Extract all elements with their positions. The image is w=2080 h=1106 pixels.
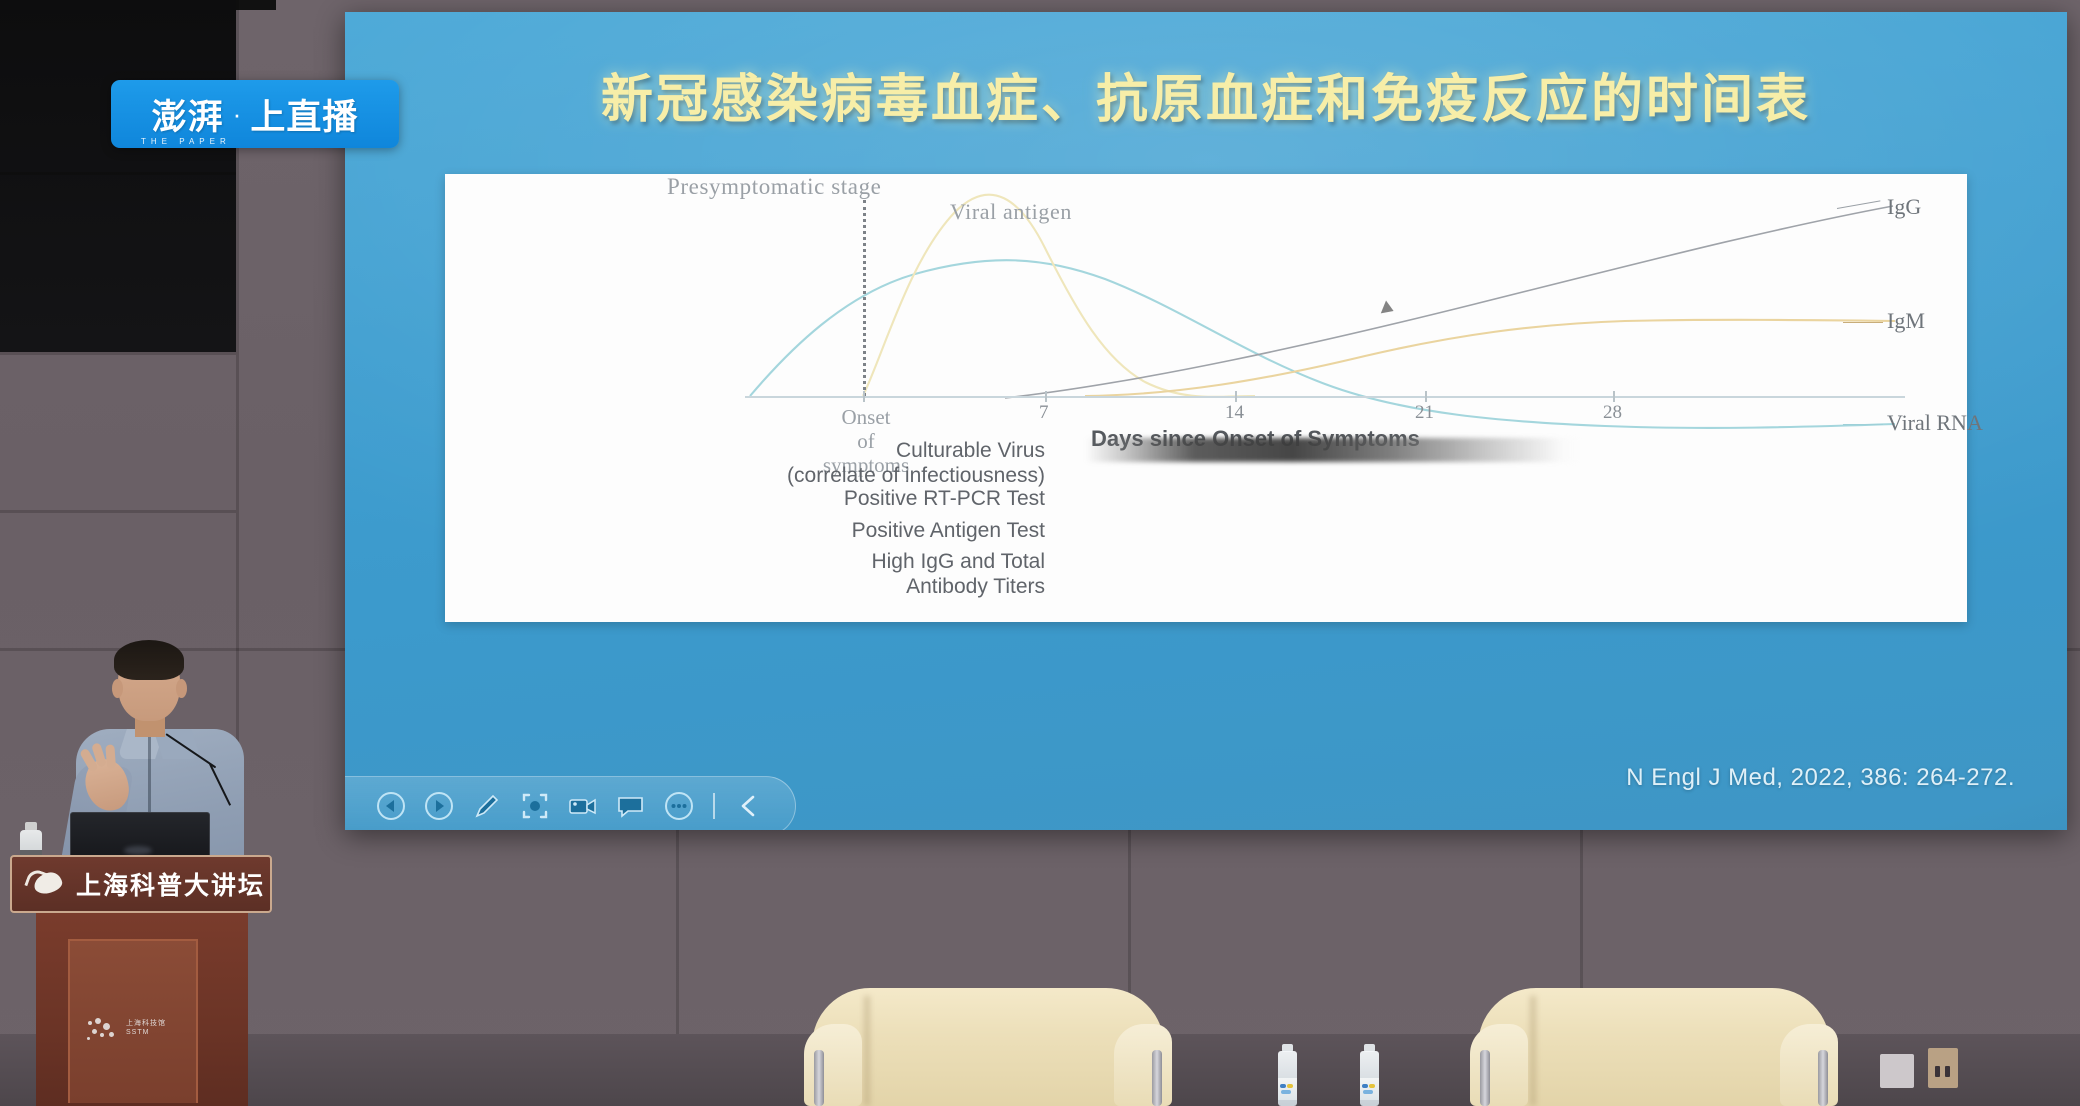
livestream-frame: 新冠感染病毒血症、抗原血症和免疫反应的时间表: [0, 0, 2080, 1106]
x-tick-label-21: 21: [1415, 402, 1434, 424]
armchair-crease: [1530, 996, 1536, 1106]
bottle-label: [1360, 1078, 1379, 1100]
leader-line-igm: [1843, 322, 1883, 323]
armchair-arm-right: [1114, 1024, 1172, 1106]
armchair-leg: [1818, 1050, 1828, 1106]
laptop-logo-glow: [124, 846, 152, 855]
toolbar-divider: [713, 793, 715, 819]
figure-panel: 7 14 21 28 Presymptomatic stage Viral an…: [445, 174, 1967, 622]
armchair-arm-right: [1780, 1024, 1838, 1106]
watermark-live-label: 上直播: [250, 89, 358, 140]
presenter-toolbar[interactable]: [345, 776, 796, 830]
slide-title: 新冠感染病毒血症、抗原血症和免疫反应的时间表: [345, 57, 2067, 132]
series-label-viral-rna: Viral RNA: [1887, 410, 1983, 436]
series-label-igm: IgM: [1887, 308, 1925, 334]
watermark-subtitle: THE PAPER: [141, 137, 231, 146]
next-slide-button[interactable]: [415, 783, 463, 829]
presymptomatic-divider: [863, 200, 866, 396]
comment-button[interactable]: [607, 783, 655, 829]
timeline-row-label-antigen-test: Positive Antigen Test: [645, 519, 1045, 544]
annotation-viral-antigen: Viral antigen: [950, 199, 1072, 225]
series-label-igg: IgG: [1887, 194, 1921, 220]
video-button[interactable]: [559, 783, 607, 829]
watermark-dot: ·: [233, 101, 242, 127]
curve-igm: [1085, 320, 1895, 396]
sstm-emblem-icon: [26, 869, 66, 899]
x-axis-line: [745, 396, 1905, 398]
lectern-sign: 上海科普大讲坛: [10, 855, 272, 913]
speaker-ear: [112, 679, 123, 698]
armchair-crease: [864, 996, 870, 1106]
armchair-right: [1478, 988, 1830, 1106]
wall-seam: [0, 352, 236, 355]
wall-dark-column: [0, 0, 236, 352]
bottle-label: [1278, 1078, 1297, 1100]
annotate-pen-button[interactable]: [463, 783, 511, 829]
stage-water-bottle: [1360, 1044, 1379, 1106]
spotlight-button[interactable]: [511, 783, 559, 829]
watermark-brand: 澎湃: [152, 89, 224, 140]
x-tick-label-7: 7: [1039, 402, 1049, 424]
speaker-hair: [114, 640, 184, 680]
culturable-virus-bar: [1085, 438, 1580, 462]
wall-seam: [0, 510, 236, 513]
lectern: 上海科技馆 SSTM 上海科普大讲坛: [10, 855, 272, 1106]
x-tick-21: [1425, 391, 1427, 402]
annotation-presymptomatic-stage: Presymptomatic stage: [667, 174, 882, 200]
leader-line-viral-rna: [1843, 424, 1883, 425]
armchair-arm-left: [1470, 1024, 1528, 1106]
x-tick-0: [863, 391, 865, 402]
x-tick-14: [1235, 391, 1237, 402]
lectern-logo-dots: [86, 1017, 120, 1043]
x-tick-28: [1613, 391, 1615, 402]
lectern-logo-text: 上海科技馆 SSTM: [126, 1019, 166, 1037]
projection-screen: 新冠感染病毒血症、抗原血症和免疫反应的时间表: [345, 12, 2067, 830]
broadcaster-watermark: 澎湃 · 上直播 THE PAPER: [111, 80, 399, 148]
x-tick-7: [1045, 391, 1047, 402]
wall-plate-icon: [1880, 1054, 1914, 1088]
lectern-logo-line2: SSTM: [126, 1029, 149, 1036]
armchair-leg: [1152, 1050, 1162, 1106]
wall-seam: [0, 172, 236, 175]
armchair-leg: [814, 1050, 824, 1106]
timeline-row-label-high-igg: High IgG and Total Antibody Titers: [645, 550, 1045, 600]
speaker-finger: [105, 744, 116, 769]
more-options-button[interactable]: [655, 783, 703, 829]
stage-water-bottle: [1278, 1044, 1297, 1106]
timeline-row-label-culturable-virus: Culturable Virus (correlate of infectiou…: [645, 439, 1045, 489]
wall-socket-icon: [1928, 1048, 1958, 1088]
curve-igg: [1005, 206, 1893, 398]
timeline-row-label-rt-pcr: Positive RT-PCR Test: [645, 487, 1045, 512]
lectern-sstm-logo: 上海科技馆 SSTM: [86, 1015, 172, 1045]
collapse-toolbar-button[interactable]: [725, 783, 773, 829]
x-tick-label-14: 14: [1225, 402, 1244, 424]
armchair-left: [812, 988, 1164, 1106]
armchair-arm-left: [804, 1024, 862, 1106]
lectern-logo-line1: 上海科技馆: [126, 1020, 166, 1027]
armchair-leg: [1480, 1050, 1490, 1106]
slide-citation: N Engl J Med, 2022, 386: 264-272.: [1626, 764, 2015, 792]
speaker-ear: [176, 679, 187, 698]
x-tick-label-28: 28: [1603, 402, 1622, 424]
curve-viral-rna: [750, 260, 1895, 428]
wall-dark-strip: [236, 0, 276, 10]
lectern-sign-text: 上海科普大讲坛: [76, 866, 265, 902]
figure-canvas: 7 14 21 28 Presymptomatic stage Viral an…: [445, 174, 1967, 622]
previous-slide-button[interactable]: [367, 783, 415, 829]
